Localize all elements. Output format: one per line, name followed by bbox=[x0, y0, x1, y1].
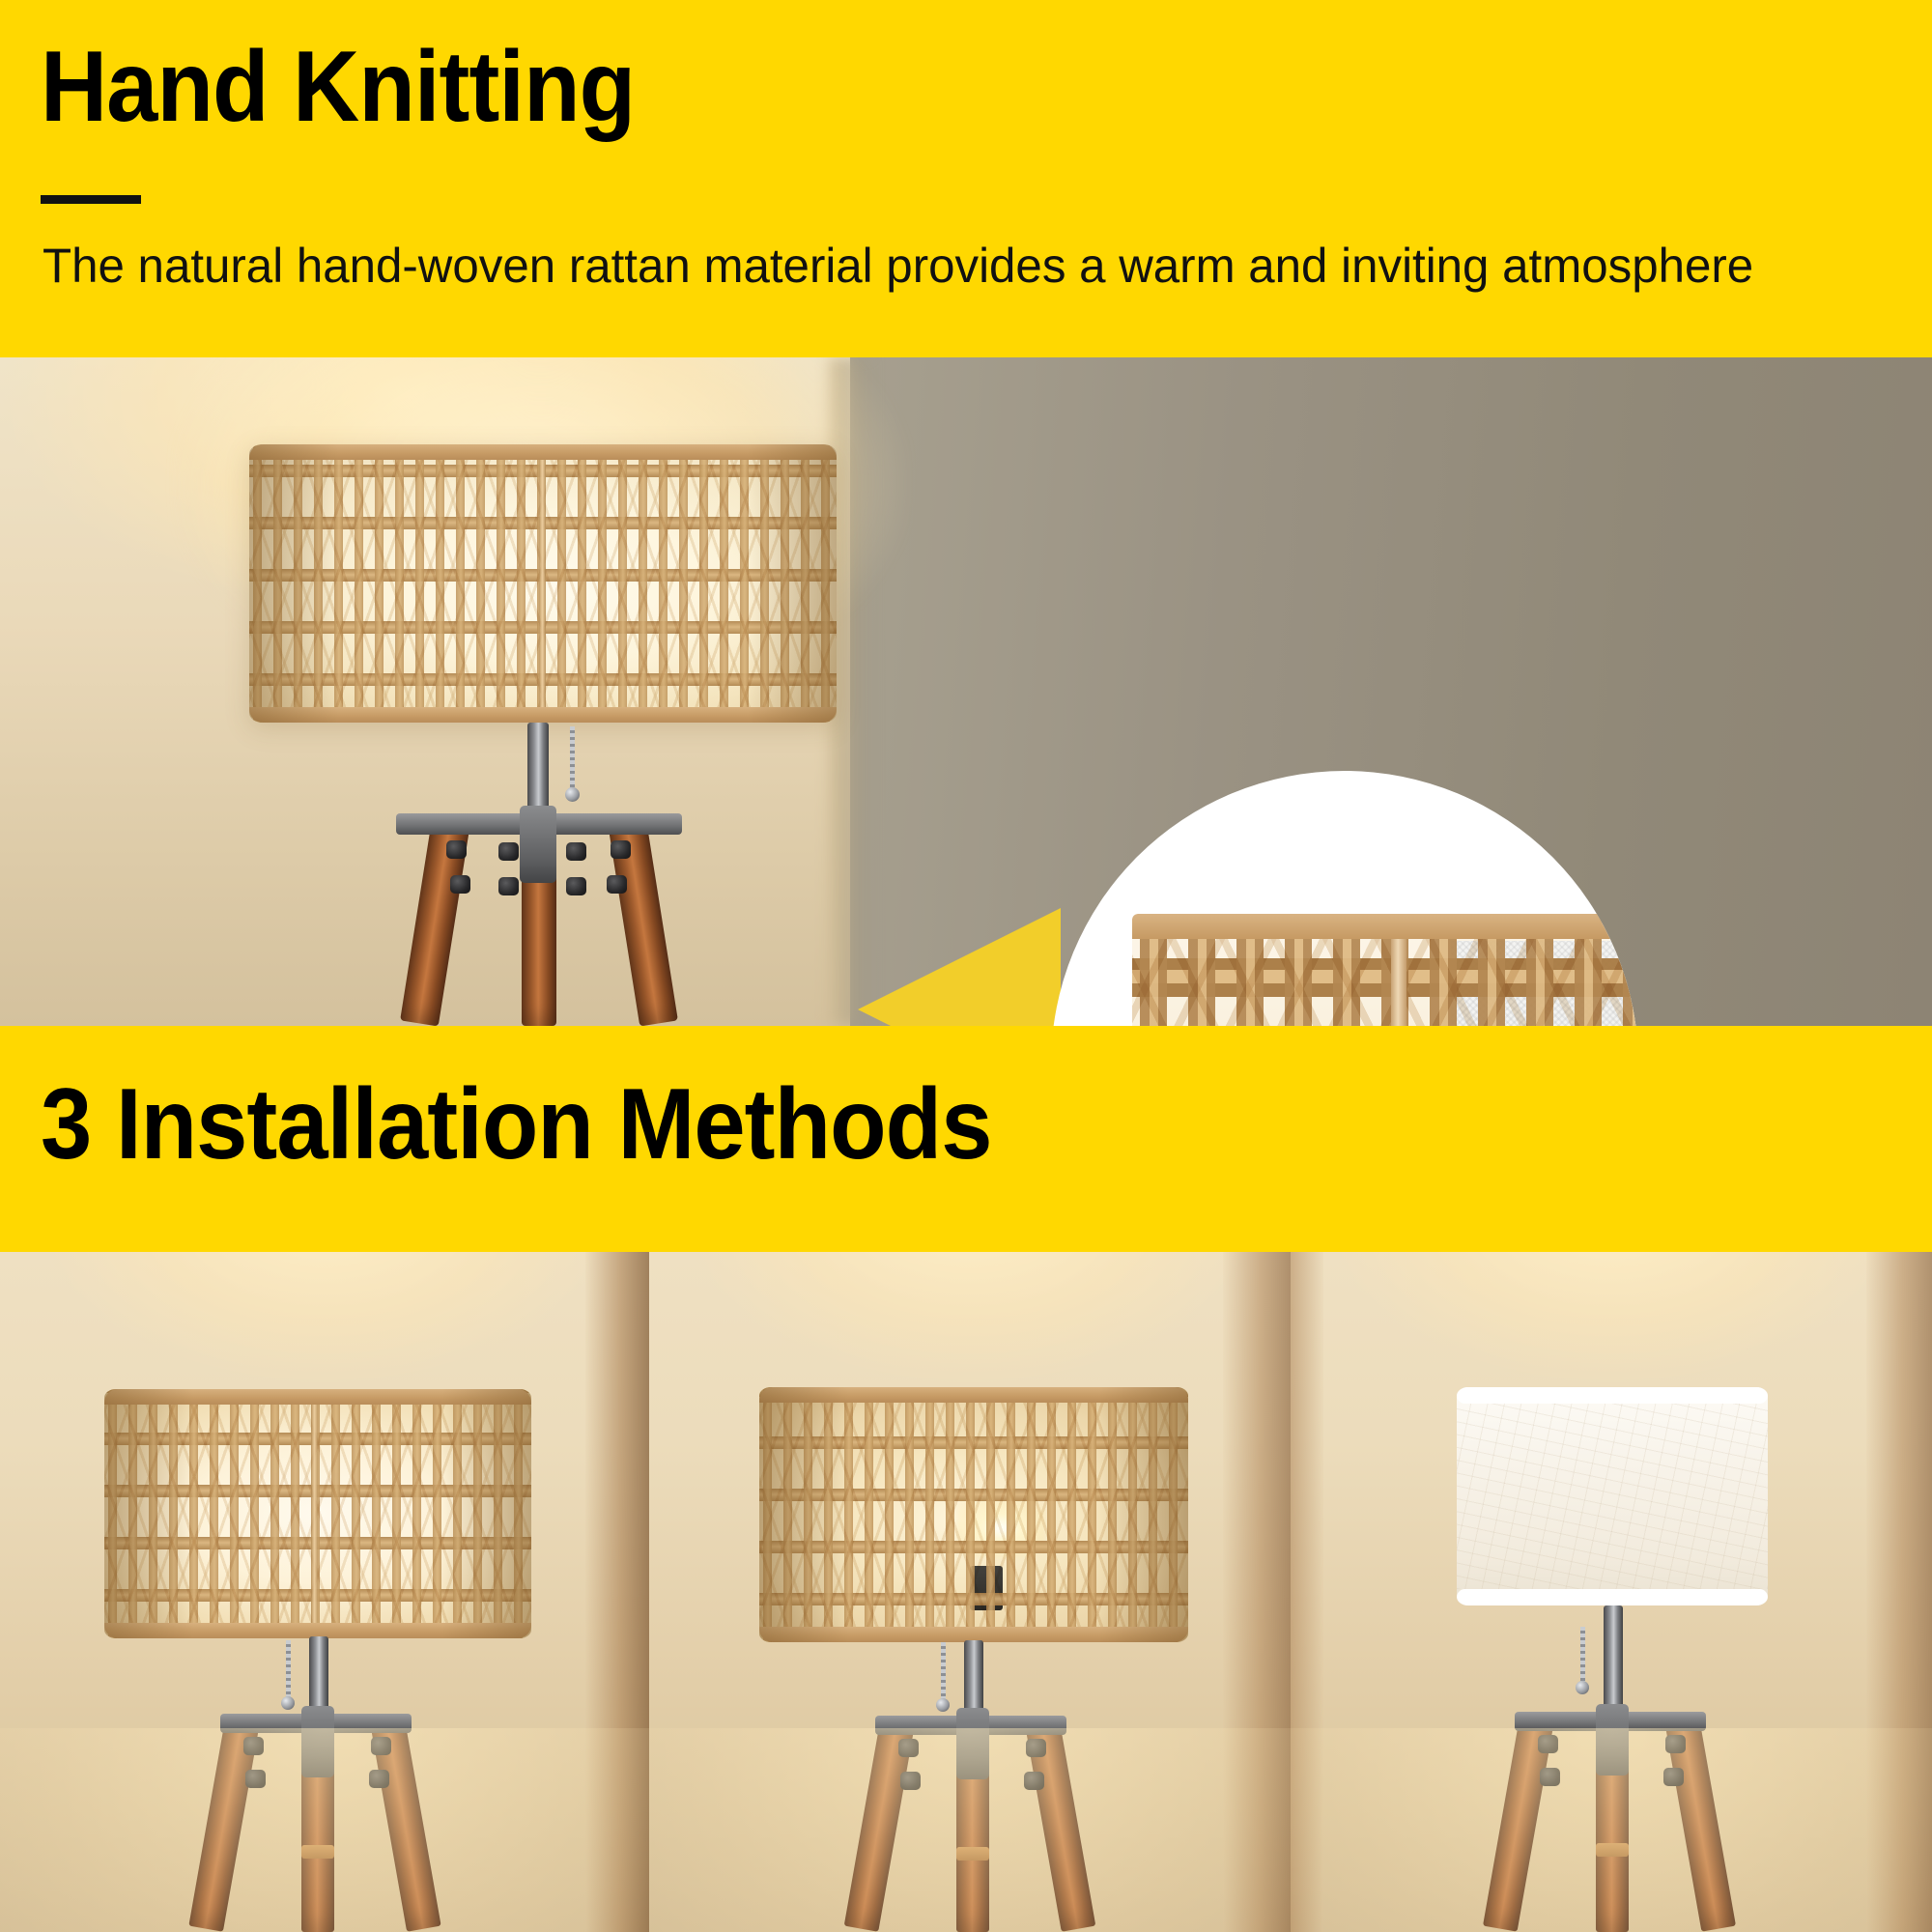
panel1-rattan-shade-with-diffuser bbox=[104, 1389, 531, 1638]
panel3-shade-rim-bottom bbox=[1457, 1589, 1768, 1605]
infographic-page: Hand Knitting The natural hand-woven rat… bbox=[0, 0, 1932, 1932]
panel2-weave-cross bbox=[759, 1387, 1188, 1642]
panel3-pull-chain-ball bbox=[1576, 1681, 1589, 1694]
panel3-shade-rim-top bbox=[1457, 1387, 1768, 1404]
hero-bolt-1 bbox=[446, 840, 467, 859]
hero-photo-rattan-lamp bbox=[0, 357, 1932, 1026]
magnifier-shade-rim bbox=[1132, 914, 1638, 939]
hero-bolt-4 bbox=[607, 875, 627, 894]
page-title-hand-knitting: Hand Knitting bbox=[41, 37, 635, 137]
panel2-pull-chain bbox=[941, 1642, 946, 1700]
hero-shade-rim-top bbox=[249, 444, 837, 460]
hero-bolt-8 bbox=[566, 877, 586, 895]
installation-method-panels bbox=[0, 1252, 1932, 1932]
panel2-floor-glow bbox=[649, 1728, 1291, 1932]
method-panel-3 bbox=[1291, 1252, 1932, 1932]
panel3-linen-texture bbox=[1457, 1404, 1768, 1589]
hero-rattan-shade bbox=[249, 444, 837, 723]
hero-bolt-2 bbox=[450, 875, 470, 894]
panel1-weave-cross bbox=[104, 1389, 531, 1638]
title-divider-rule bbox=[41, 195, 141, 204]
subtitle-hand-knitting: The natural hand-woven rattan material p… bbox=[43, 238, 1753, 294]
hero-bolt-5 bbox=[498, 842, 519, 861]
panel3-pull-chain bbox=[1580, 1627, 1585, 1683]
method-panel-2 bbox=[649, 1252, 1291, 1932]
hero-bolt-3 bbox=[611, 840, 631, 859]
hero-shade-rim-bottom bbox=[249, 707, 837, 723]
hero-pull-chain-ball bbox=[565, 787, 580, 802]
hero-lamp-stem bbox=[527, 723, 549, 813]
magnifier-weave-crop bbox=[1132, 914, 1638, 1026]
magnifier-pointer-triangle bbox=[858, 908, 1061, 1026]
panel3-lamp-stem bbox=[1604, 1605, 1623, 1712]
hero-bolt-6 bbox=[498, 877, 519, 895]
panel1-shade-rim-top bbox=[104, 1389, 531, 1405]
hero-pull-chain bbox=[570, 726, 575, 790]
panel2-pull-chain-ball bbox=[936, 1698, 950, 1712]
panel1-floor-glow bbox=[0, 1728, 649, 1932]
hero-tripod-hub bbox=[520, 806, 556, 883]
panel2-shade-rim-top bbox=[759, 1387, 1188, 1403]
panel3-floor-glow bbox=[1291, 1728, 1932, 1932]
panel2-rattan-shade-no-diffuser bbox=[759, 1387, 1188, 1642]
method-panel-1 bbox=[0, 1252, 649, 1932]
hero-shade-seam bbox=[539, 444, 546, 723]
panel1-pull-chain-ball bbox=[281, 1696, 295, 1710]
page-title-installation-methods: 3 Installation Methods bbox=[41, 1074, 992, 1175]
hero-bolt-7 bbox=[566, 842, 586, 861]
panel1-shade-seam bbox=[311, 1389, 318, 1638]
panel1-pull-chain bbox=[286, 1640, 291, 1698]
panel3-white-linen-shade bbox=[1457, 1387, 1768, 1605]
